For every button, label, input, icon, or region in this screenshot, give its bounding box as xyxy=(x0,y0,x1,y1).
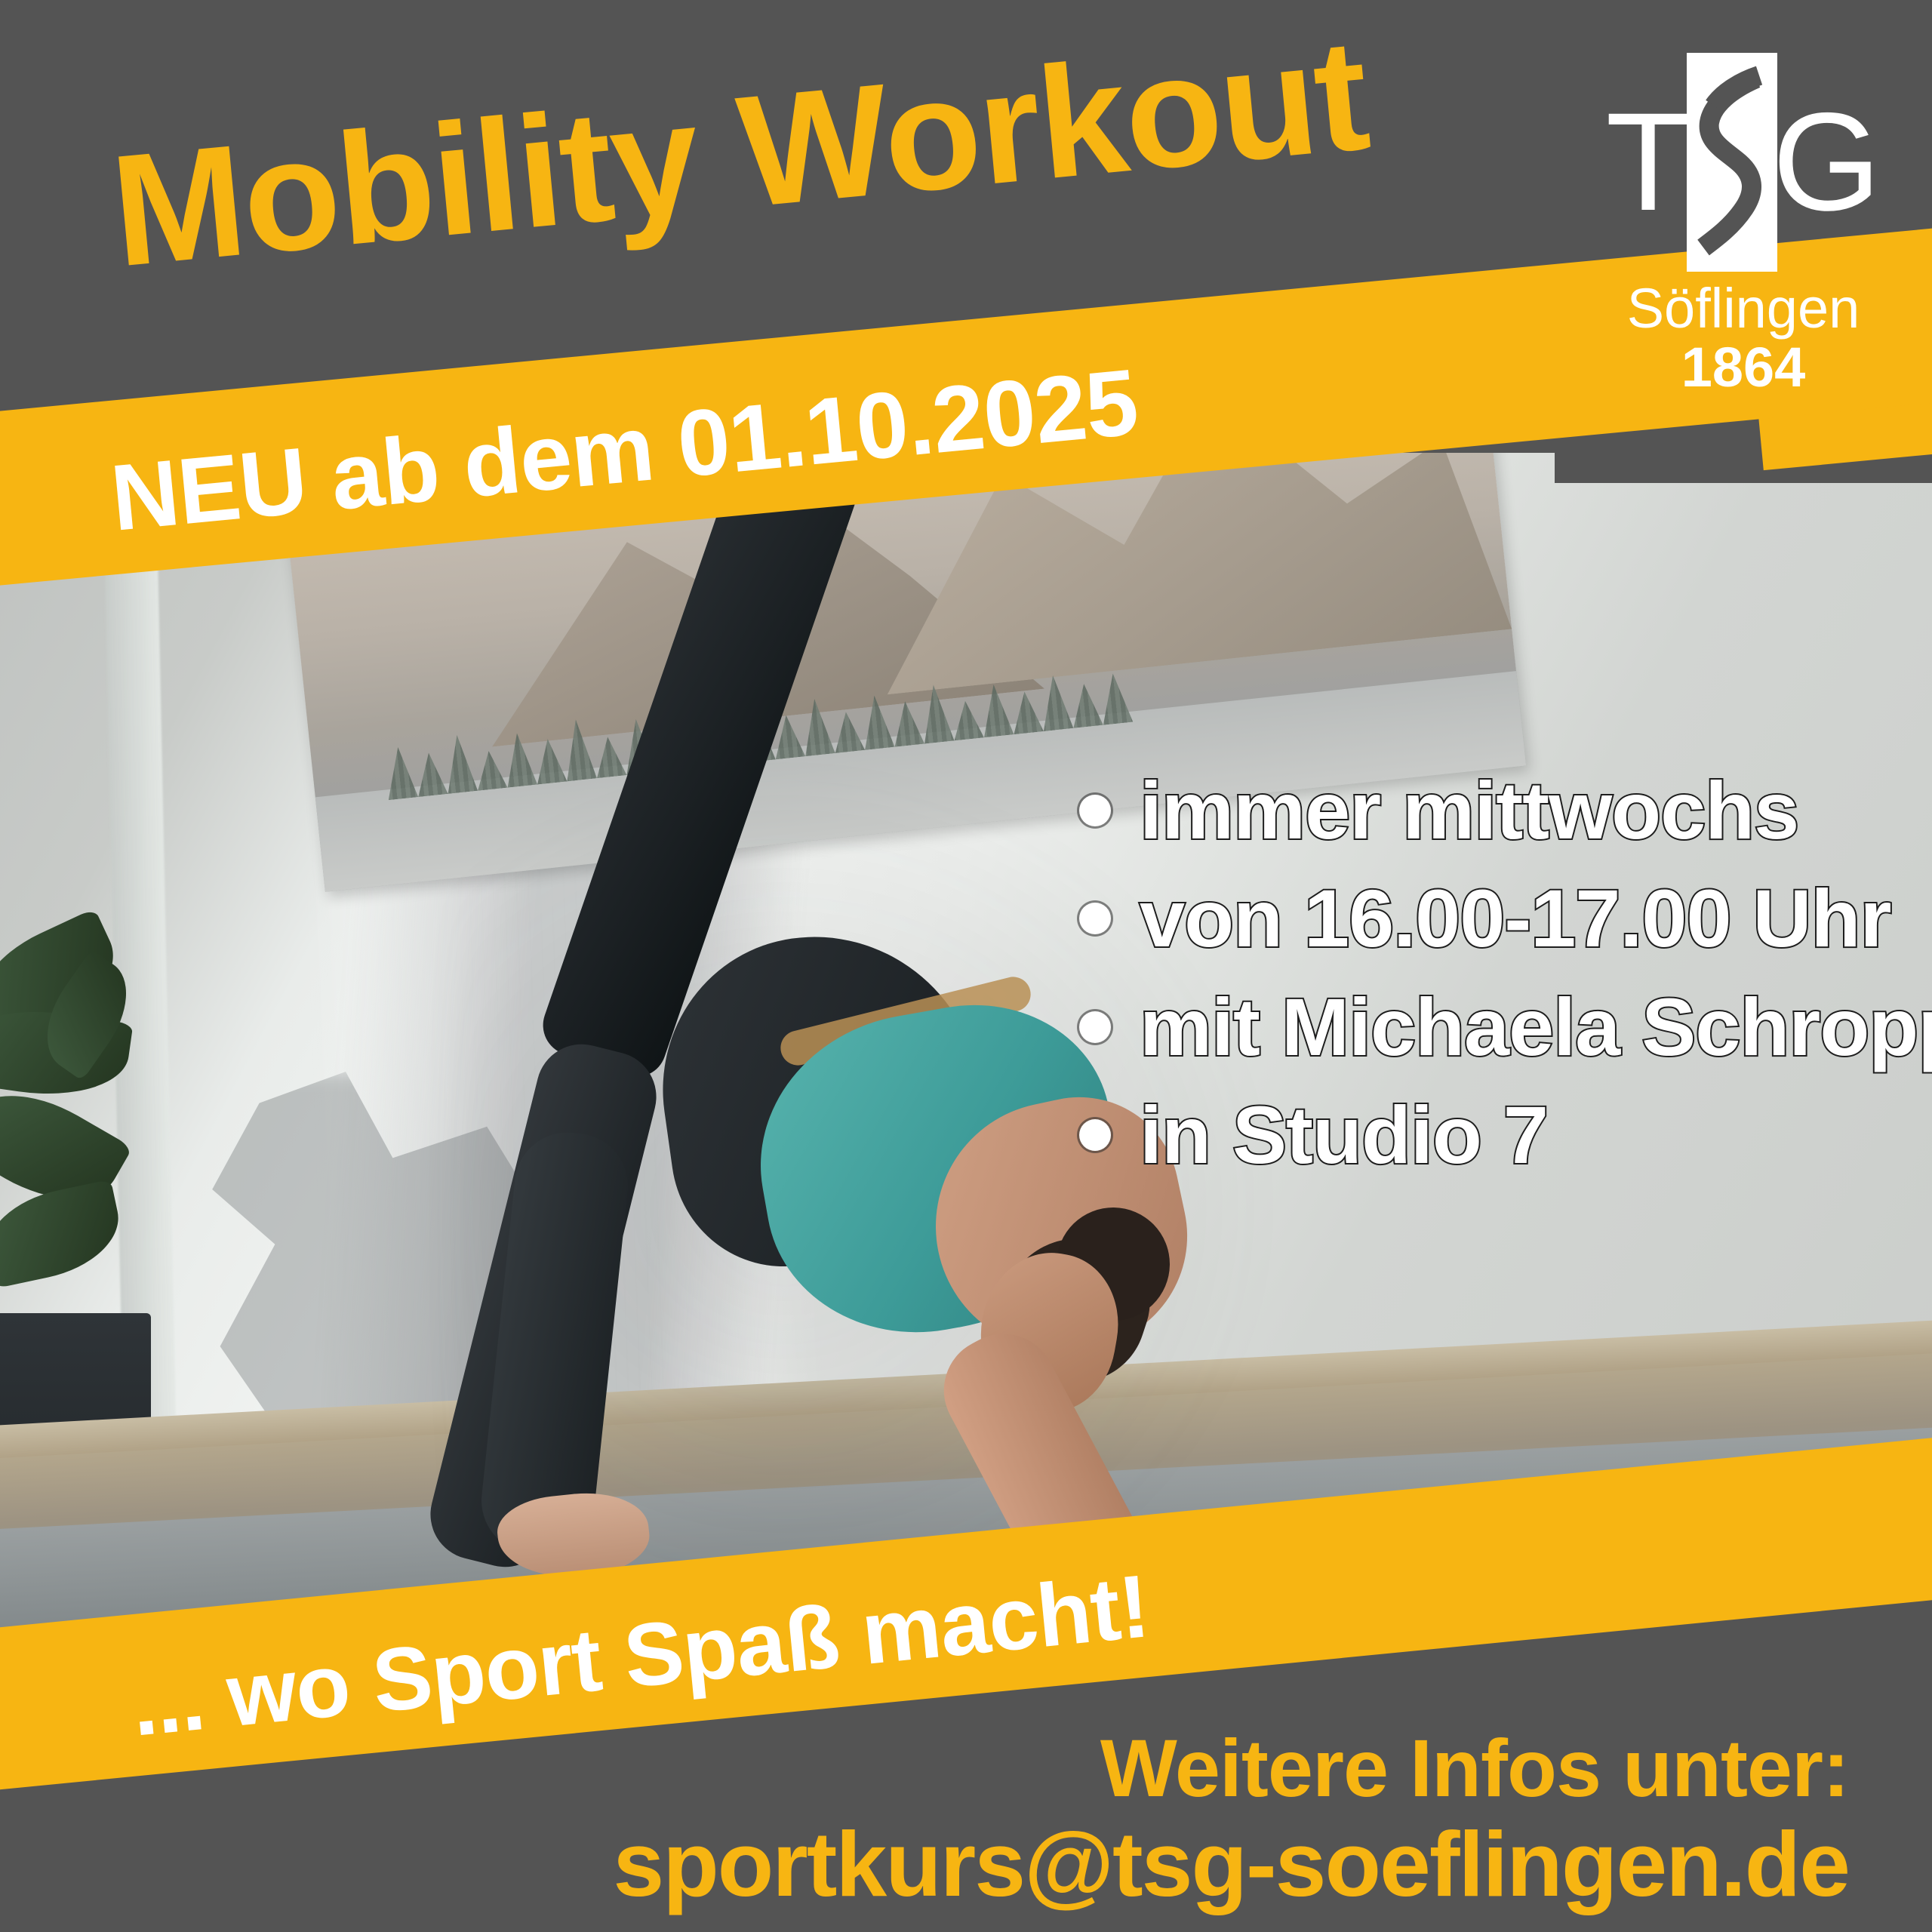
course-details-list: immer mittwochs von 16.00-17.00 Uhr mit … xyxy=(1079,762,1909,1195)
bullet-dot-icon xyxy=(1079,1011,1111,1043)
logo-club-name: Söflingen xyxy=(1615,279,1872,338)
list-item: in Studio 7 xyxy=(1079,1087,1909,1183)
logo-mark: T G xyxy=(1615,53,1872,272)
list-item-label: in Studio 7 xyxy=(1140,1087,1548,1183)
list-item-label: immer mittwochs xyxy=(1140,762,1798,858)
logo-letter-g: G xyxy=(1773,93,1881,232)
bullet-dot-icon xyxy=(1079,1119,1111,1151)
list-item: von 16.00-17.00 Uhr xyxy=(1079,870,1909,966)
logo-letter-t: T xyxy=(1606,93,1691,232)
bullet-dot-icon xyxy=(1079,903,1111,934)
list-item-label: mit Michaela Schropp xyxy=(1140,979,1932,1075)
club-logo: T G Söflingen 1864 xyxy=(1615,53,1872,396)
poster-root: Mobility Workout NEU ab dem 01.10.2025 T… xyxy=(0,0,1932,1932)
list-item: mit Michaela Schropp xyxy=(1079,979,1909,1075)
list-item-label: von 16.00-17.00 Uhr xyxy=(1140,870,1891,966)
contact-email[interactable]: sportkurs@tsg-soeflingen.de xyxy=(613,1811,1849,1917)
contact-label: Weitere Infos unter: xyxy=(1100,1721,1849,1815)
logo-s-icon xyxy=(1687,53,1777,272)
bullet-dot-icon xyxy=(1079,795,1111,826)
logo-founded-year: 1864 xyxy=(1615,338,1872,397)
list-item: immer mittwochs xyxy=(1079,762,1909,858)
